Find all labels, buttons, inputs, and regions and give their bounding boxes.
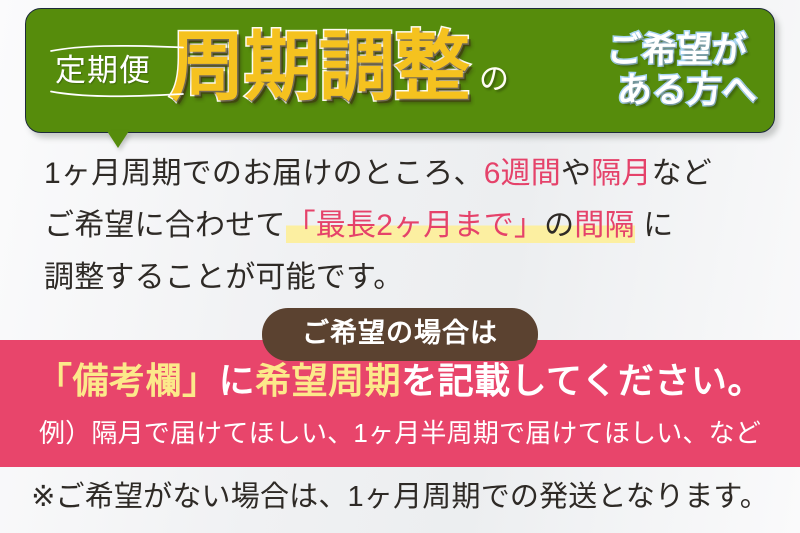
header-title-particle: の [479, 65, 509, 95]
text-run: 1ヶ月周期でのお届けのところ、 [44, 157, 484, 190]
text-run: や [561, 157, 591, 190]
text-run: 「最長2ヶ月まで」 [286, 209, 544, 243]
text-run: に [219, 360, 256, 401]
text-run: など [652, 157, 712, 190]
text-run: の [544, 209, 574, 243]
description-line-2: ご希望に合わせて「最長2ヶ月まで」の間隔 に [44, 200, 774, 252]
description-paragraph: 1ヶ月周期でのお届けのところ、6週間や隔月など ご希望に合わせて「最長2ヶ月まで… [44, 148, 774, 304]
header-content-row: 定期便 周期調整 の ご希望が ある方へ [25, 8, 775, 133]
wavy-rule-top-icon [49, 44, 185, 53]
instruction-headline: 「備考欄」に希望周期を記載してください。 [0, 363, 800, 399]
text-run: 希望周期 [255, 360, 401, 401]
text-run: ご希望に合わせて [44, 209, 286, 242]
request-case-badge: ご希望の場合は [262, 308, 538, 361]
subscription-tag: 定期便 [51, 45, 155, 97]
text-run: 6週間 [484, 157, 561, 190]
wavy-rule-bottom-icon [49, 89, 185, 98]
text-run: 隔月 [591, 157, 651, 190]
text-run: 間隔 [574, 209, 634, 243]
text-run: を記載してください。 [401, 360, 764, 401]
header-main-title: 周期調整 [169, 30, 469, 106]
promo-banner: 定期便 周期調整 の ご希望が ある方へ 1ヶ月周期でのお届けのところ、6週間や… [0, 0, 800, 533]
header-aside-line1: ご希望が [607, 31, 757, 70]
text-run: 調整することが可能です。 [44, 261, 403, 294]
text-run: 「備考欄」 [36, 360, 219, 401]
speech-bubble-tail-icon [107, 131, 129, 148]
header-banner: 定期便 周期調整 の ご希望が ある方へ [25, 8, 775, 133]
subscription-tag-label: 定期便 [55, 55, 151, 86]
header-aside-text: ご希望が ある方へ [607, 31, 757, 109]
text-run: に [635, 209, 674, 242]
header-aside-line2: ある方へ [617, 71, 757, 110]
instruction-example: 例）隔月で届けてほしい、1ヶ月半周期で届けてほしい、など [0, 420, 800, 446]
description-line-1: 1ヶ月周期でのお届けのところ、6週間や隔月など [44, 148, 774, 200]
footer-note: ※ご希望がない場合は、1ヶ月周期での発送となります。 [0, 483, 800, 512]
description-line-3: 調整することが可能です。 [44, 252, 774, 304]
